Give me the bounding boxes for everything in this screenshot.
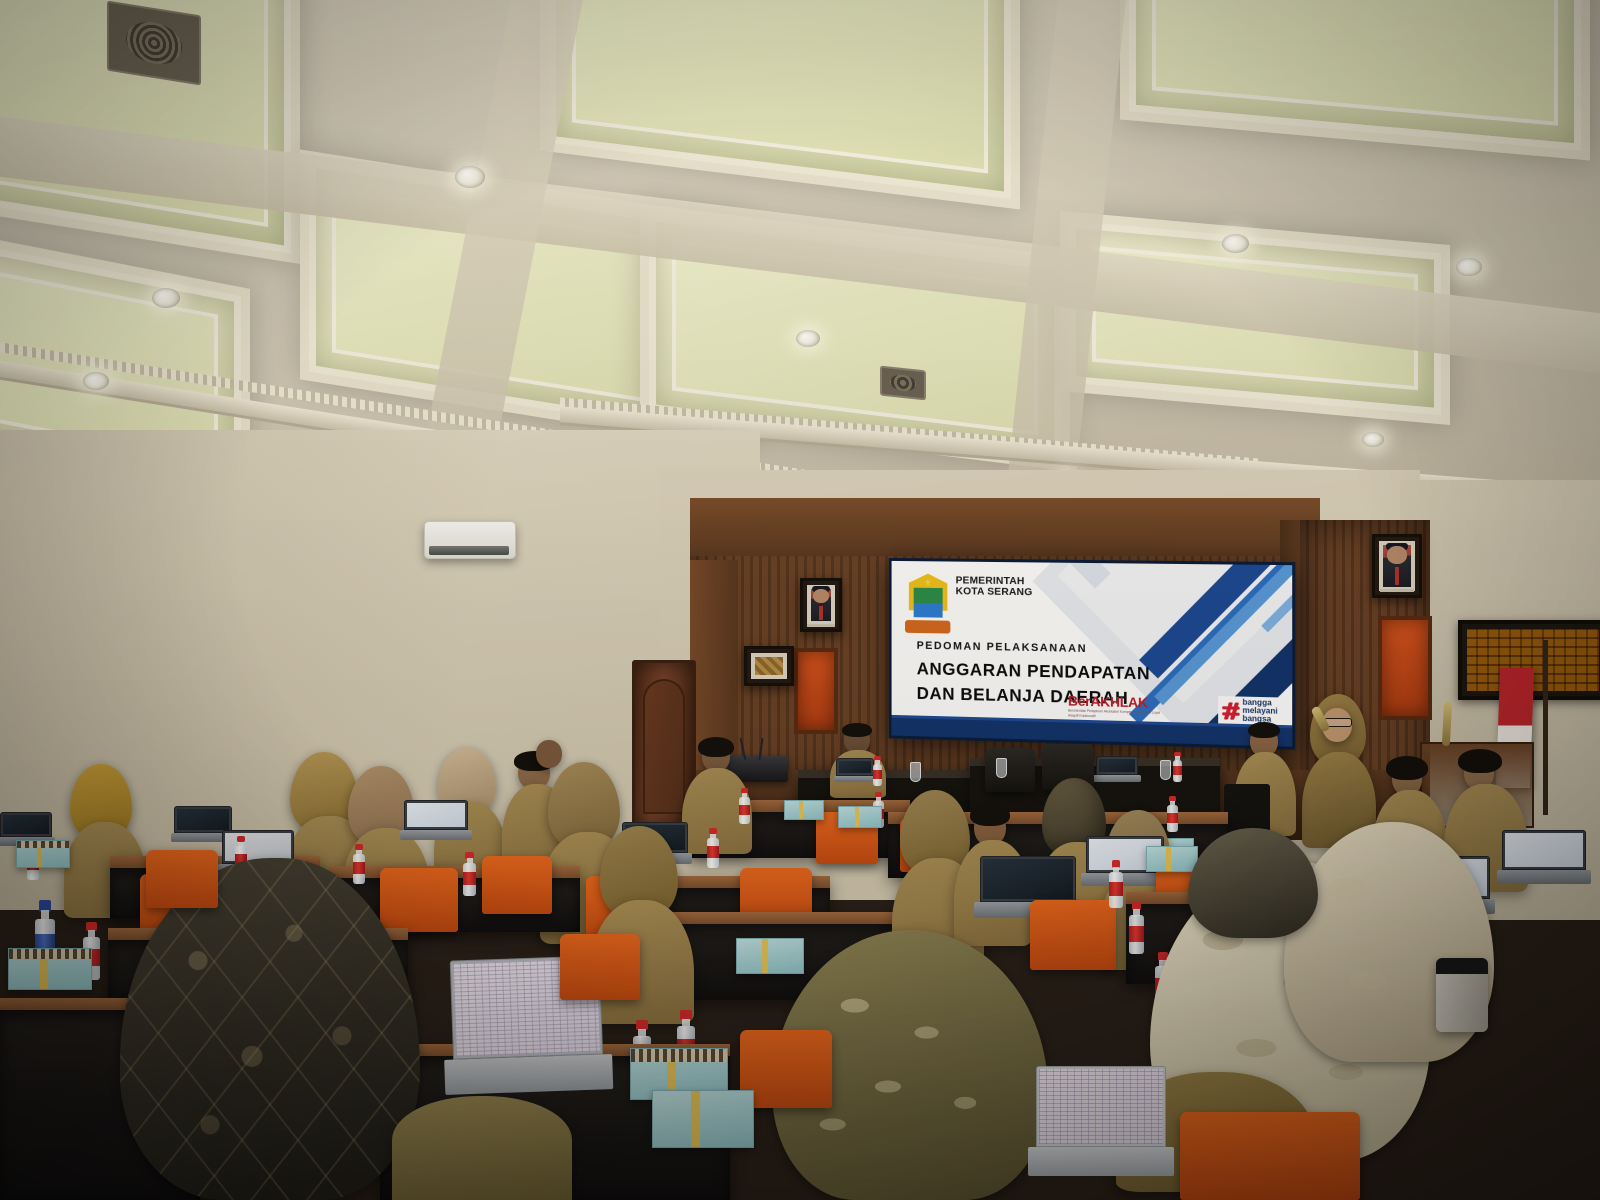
water-bottle (352, 844, 366, 884)
ceiling-coffer (1120, 0, 1590, 161)
display-niche (794, 648, 838, 734)
downlight (796, 330, 820, 347)
seminar-room-photo: PEMERINTAH KOTA SERANG PEDOMAN PELAKSANA… (0, 0, 1600, 1200)
water-bottle (1108, 860, 1124, 908)
air-conditioner-icon (424, 521, 516, 559)
bangga-melayani-bangsa-logo: bangga melayani bangsa (1218, 696, 1282, 726)
downlight (1222, 234, 1249, 253)
laptop[interactable] (836, 758, 874, 782)
snack-box (16, 840, 70, 868)
snack-box (8, 948, 92, 990)
framed-artwork (744, 646, 794, 686)
portrait-president (800, 578, 842, 632)
downlight (1456, 258, 1482, 276)
water-bottle (1172, 752, 1183, 782)
chair[interactable] (146, 850, 218, 908)
downlight (83, 372, 109, 390)
thermos (1436, 958, 1488, 1032)
kota-serang-logo-icon (909, 573, 948, 633)
display-niche (1378, 616, 1432, 720)
snack-box (736, 938, 804, 974)
snack-box (838, 806, 882, 828)
water-bottle (706, 828, 720, 868)
downlight (1362, 432, 1384, 447)
water-bottle (1128, 902, 1145, 954)
ceiling-vent-icon (880, 366, 926, 401)
water-bottle (872, 756, 883, 786)
bangga-mark-icon (1222, 702, 1239, 720)
water-bottle (738, 788, 751, 824)
government-name: PEMERINTAH KOTA SERANG (956, 576, 1115, 600)
drinking-glass (996, 758, 1007, 778)
chair[interactable] (985, 748, 1035, 792)
water-bottle (1166, 796, 1179, 832)
chair[interactable] (380, 868, 458, 932)
drinking-glass (910, 762, 921, 782)
chair[interactable] (482, 856, 552, 914)
projection-screen: PEMERINTAH KOTA SERANG PEDOMAN PELAKSANA… (889, 558, 1296, 750)
chair[interactable] (1180, 1112, 1360, 1200)
snack-box (652, 1090, 754, 1148)
gov-line-2: KOTA SERANG (956, 587, 1115, 600)
laptop[interactable] (1096, 756, 1138, 782)
presentation-slide: PEMERINTAH KOTA SERANG PEDOMAN PELAKSANA… (892, 561, 1293, 747)
laptop[interactable] (1502, 830, 1586, 884)
ceiling-coffer (540, 0, 1020, 209)
portrait-vice-president (1372, 534, 1422, 598)
slide-eyebrow: PEDOMAN PELAKSANAAN (917, 640, 1087, 655)
bangga-text: bangga melayani bangsa (1242, 699, 1277, 724)
flag-pole (1543, 640, 1548, 815)
snack-box (1146, 846, 1198, 872)
berakhlak-logo: BerAKHLAK Berorientasi Pelayanan Akuntab… (1068, 692, 1164, 721)
snack-box (784, 800, 824, 820)
chair[interactable] (1030, 900, 1116, 970)
downlight (152, 288, 180, 308)
wood-header-band (690, 498, 1320, 556)
drinking-glass (1160, 760, 1171, 780)
ceiling-vent-icon (107, 1, 201, 86)
laptop[interactable] (404, 800, 468, 840)
downlight (455, 166, 485, 188)
berakhlak-wordmark: BerAKHLAK (1068, 692, 1164, 710)
water-bottle (462, 852, 477, 896)
chair[interactable] (560, 934, 640, 1000)
laptop[interactable] (1036, 1066, 1166, 1176)
slide-title-line-1: ANGGARAN PENDAPATAN (917, 659, 1151, 682)
